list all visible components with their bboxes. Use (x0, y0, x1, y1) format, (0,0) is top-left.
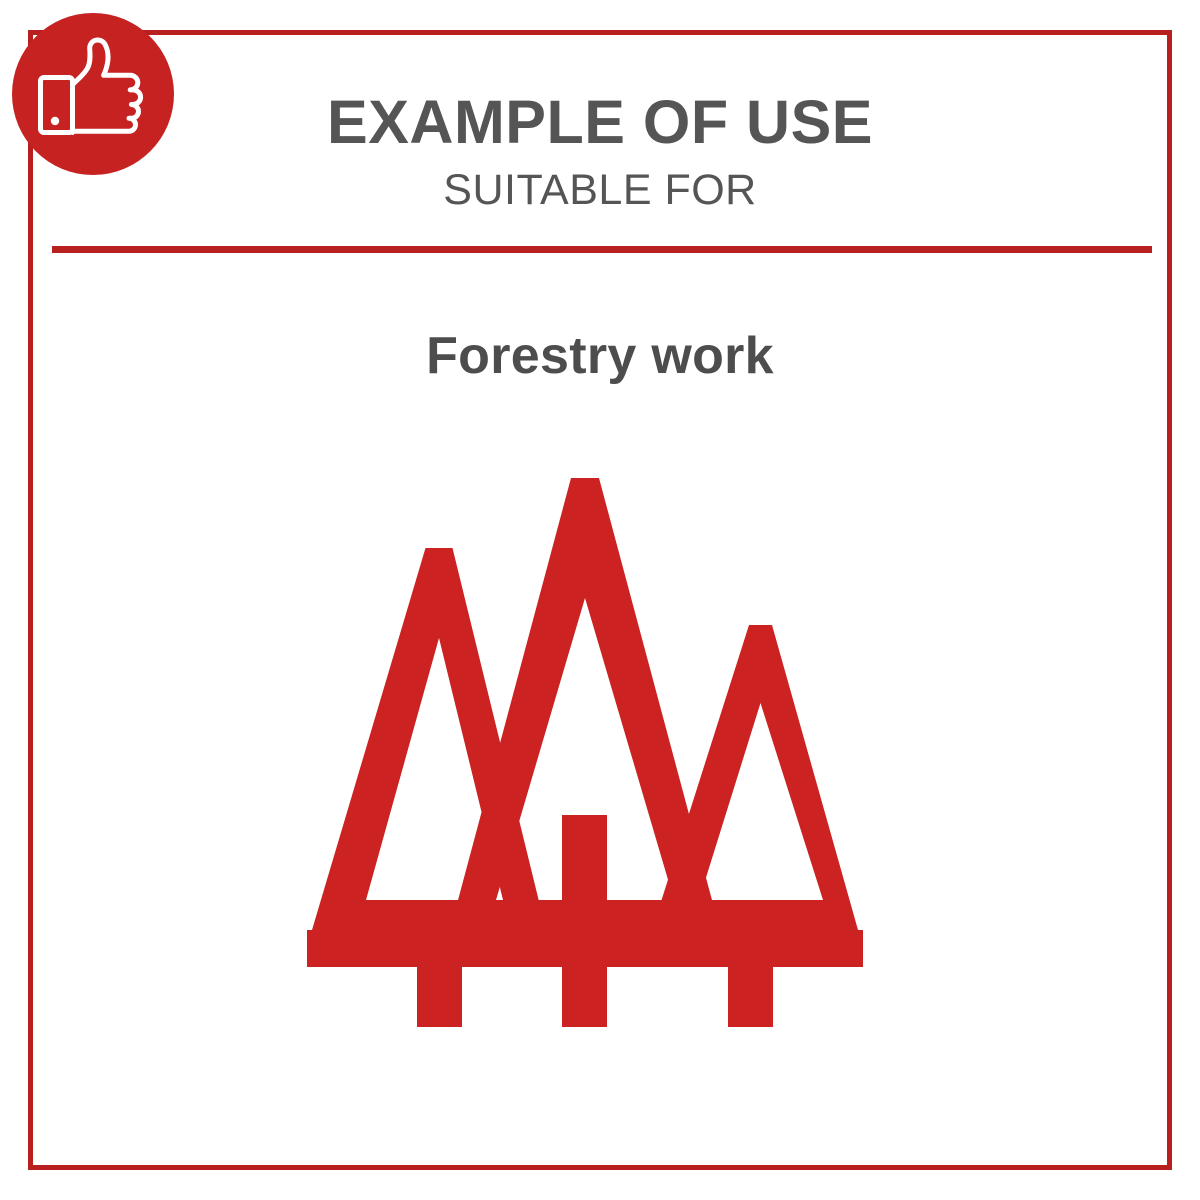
right-tree-trunk (728, 930, 773, 1027)
left-tree-trunk (417, 930, 462, 1027)
item-label-row: Forestry work (28, 330, 1172, 382)
forestry-trees-icon (300, 470, 870, 1040)
center-tree-trunk (562, 815, 607, 1027)
header-divider (52, 246, 1152, 253)
thumbs-up-badge (10, 11, 176, 177)
trees-group (307, 478, 863, 1027)
badge-circle (12, 13, 174, 175)
forestry-pictogram (300, 470, 870, 1040)
thumbs-up-cuff-dot (51, 117, 59, 125)
item-label: Forestry work (426, 327, 774, 385)
thumbs-up-icon (10, 11, 176, 177)
